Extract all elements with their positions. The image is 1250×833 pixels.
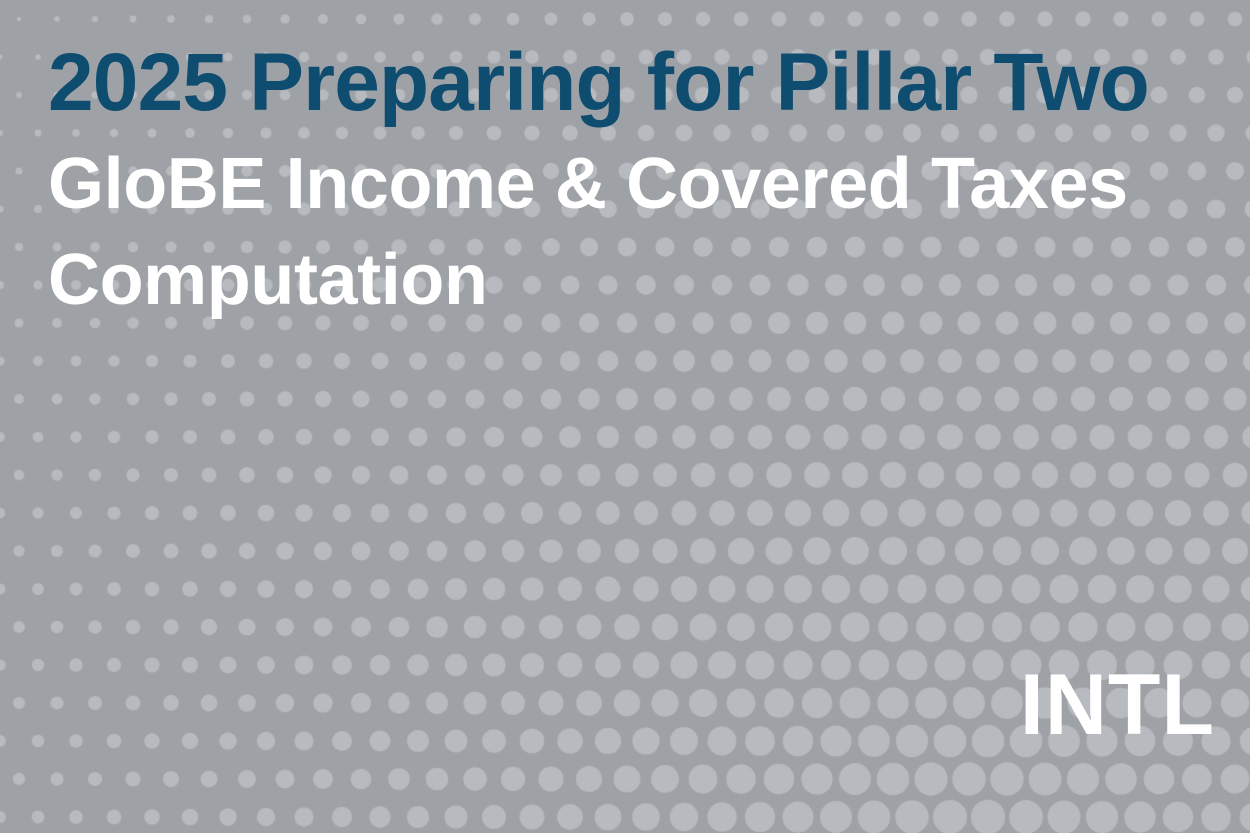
title-text-block: 2025 Preparing for Pillar Two GloBE Inco… [48,36,1228,328]
page-subtitle: GloBE Income & Covered Taxes Computation [48,136,1178,328]
page-subtitle-line-2: Computation [48,232,1178,328]
page-subtitle-line-1: GloBE Income & Covered Taxes [48,136,1178,232]
brand-logo-intl: INTL [1020,662,1215,748]
page-title: 2025 Preparing for Pillar Two [48,36,1228,130]
title-slide: 2025 Preparing for Pillar Two GloBE Inco… [0,0,1250,833]
